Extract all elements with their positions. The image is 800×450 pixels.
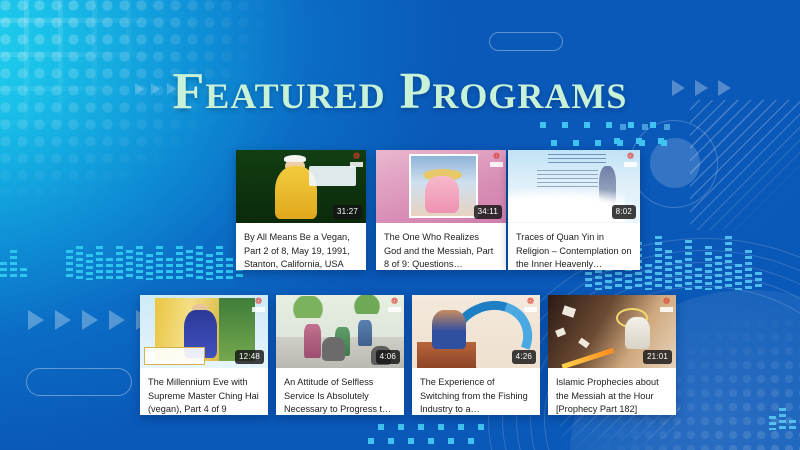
card-title: By All Means Be a Vegan, Part 2 of 8, Ma… — [236, 223, 366, 270]
channel-logo-caption — [624, 162, 637, 167]
card-title: The Experience of Switching from the Fis… — [412, 368, 540, 415]
bird-glyph: ❁ — [627, 152, 635, 161]
bird-glyph: ❁ — [391, 297, 399, 306]
play-triangle-icon — [109, 310, 125, 330]
channel-logo-caption — [350, 162, 363, 167]
equalizer-bars-left — [66, 246, 243, 280]
program-card[interactable]: ❁ 4:26 The Experience of Switching from … — [412, 295, 540, 415]
channel-logo-icon: ❁ — [624, 152, 637, 168]
card-title: The One Who Realizes God and the Messiah… — [376, 223, 506, 270]
channel-logo-caption — [524, 307, 537, 312]
duration-badge: 21:01 — [643, 350, 672, 364]
card-thumbnail[interactable]: ❁ 8:02 — [508, 150, 640, 223]
square-grid-right — [614, 138, 684, 148]
pill-outline-bottom-left — [26, 368, 132, 396]
channel-logo-icon: ❁ — [660, 297, 673, 313]
card-thumbnail[interactable]: ❁ 31:27 — [236, 150, 366, 223]
square-grid-bottom — [378, 424, 508, 446]
equalizer-bars-far-left — [0, 236, 27, 280]
channel-logo-icon: ❁ — [524, 297, 537, 313]
duration-badge: 4:26 — [512, 350, 536, 364]
play-triangle-icon — [55, 310, 71, 330]
channel-logo-icon: ❁ — [350, 152, 363, 168]
channel-logo-caption — [660, 307, 673, 312]
program-card[interactable]: ❁ 31:27 By All Means Be a Vegan, Part 2 … — [236, 150, 366, 270]
duration-badge: 31:27 — [333, 205, 362, 219]
channel-logo-icon: ❁ — [388, 297, 401, 313]
card-thumbnail[interactable]: ❁ 34:11 — [376, 150, 506, 223]
card-title: An Attitude of Selfless Service Is Absol… — [276, 368, 404, 415]
card-thumbnail[interactable]: ❁ 4:26 — [412, 295, 540, 368]
bird-glyph: ❁ — [527, 297, 535, 306]
card-thumbnail[interactable]: ❁ 21:01 — [548, 295, 676, 368]
channel-logo-caption — [490, 162, 503, 167]
duration-badge: 34:11 — [474, 205, 502, 219]
play-triangle-icon — [28, 310, 44, 330]
card-thumbnail[interactable]: ❁ 4:06 — [276, 295, 404, 368]
program-card[interactable]: ❁ 34:11 The One Who Realizes God and the… — [376, 150, 506, 270]
program-card[interactable]: ❁ 8:02 Traces of Quan Yin in Religion – … — [508, 150, 640, 270]
pill-outline-top — [489, 32, 563, 51]
card-title: Islamic Prophecies about the Messiah at … — [548, 368, 676, 415]
program-card[interactable]: ❁ 4:06 An Attitude of Selfless Service I… — [276, 295, 404, 415]
program-card[interactable]: ❁ 21:01 Islamic Prophecies about the Mes… — [548, 295, 676, 415]
channel-logo-caption — [388, 307, 401, 312]
bird-glyph: ❁ — [353, 152, 361, 161]
featured-programs-slide: Featured Programs ❁ 31:27 By All Means B… — [0, 0, 800, 450]
channel-logo-icon: ❁ — [490, 152, 503, 168]
duration-badge: 4:06 — [376, 350, 400, 364]
card-thumbnail[interactable]: ❁ 12:48 — [140, 295, 268, 368]
channel-logo-icon: ❁ — [252, 297, 265, 313]
bird-glyph: ❁ — [255, 297, 263, 306]
page-title: Featured Programs — [0, 62, 800, 121]
duration-badge: 12:48 — [235, 350, 264, 364]
bird-glyph: ❁ — [663, 297, 671, 306]
square-grid-top-dim — [620, 124, 680, 134]
equalizer-bars-bottom-right — [769, 404, 796, 430]
card-title: The Millennium Eve with Supreme Master C… — [140, 368, 268, 415]
duration-badge: 8:02 — [612, 205, 636, 219]
channel-logo-caption — [252, 307, 265, 312]
play-triangles-bottom-left — [28, 310, 152, 330]
card-title: Traces of Quan Yin in Religion – Contemp… — [508, 223, 640, 270]
program-card[interactable]: ❁ 12:48 The Millennium Eve with Supreme … — [140, 295, 268, 415]
bird-glyph: ❁ — [493, 152, 501, 161]
play-triangle-icon — [82, 310, 98, 330]
